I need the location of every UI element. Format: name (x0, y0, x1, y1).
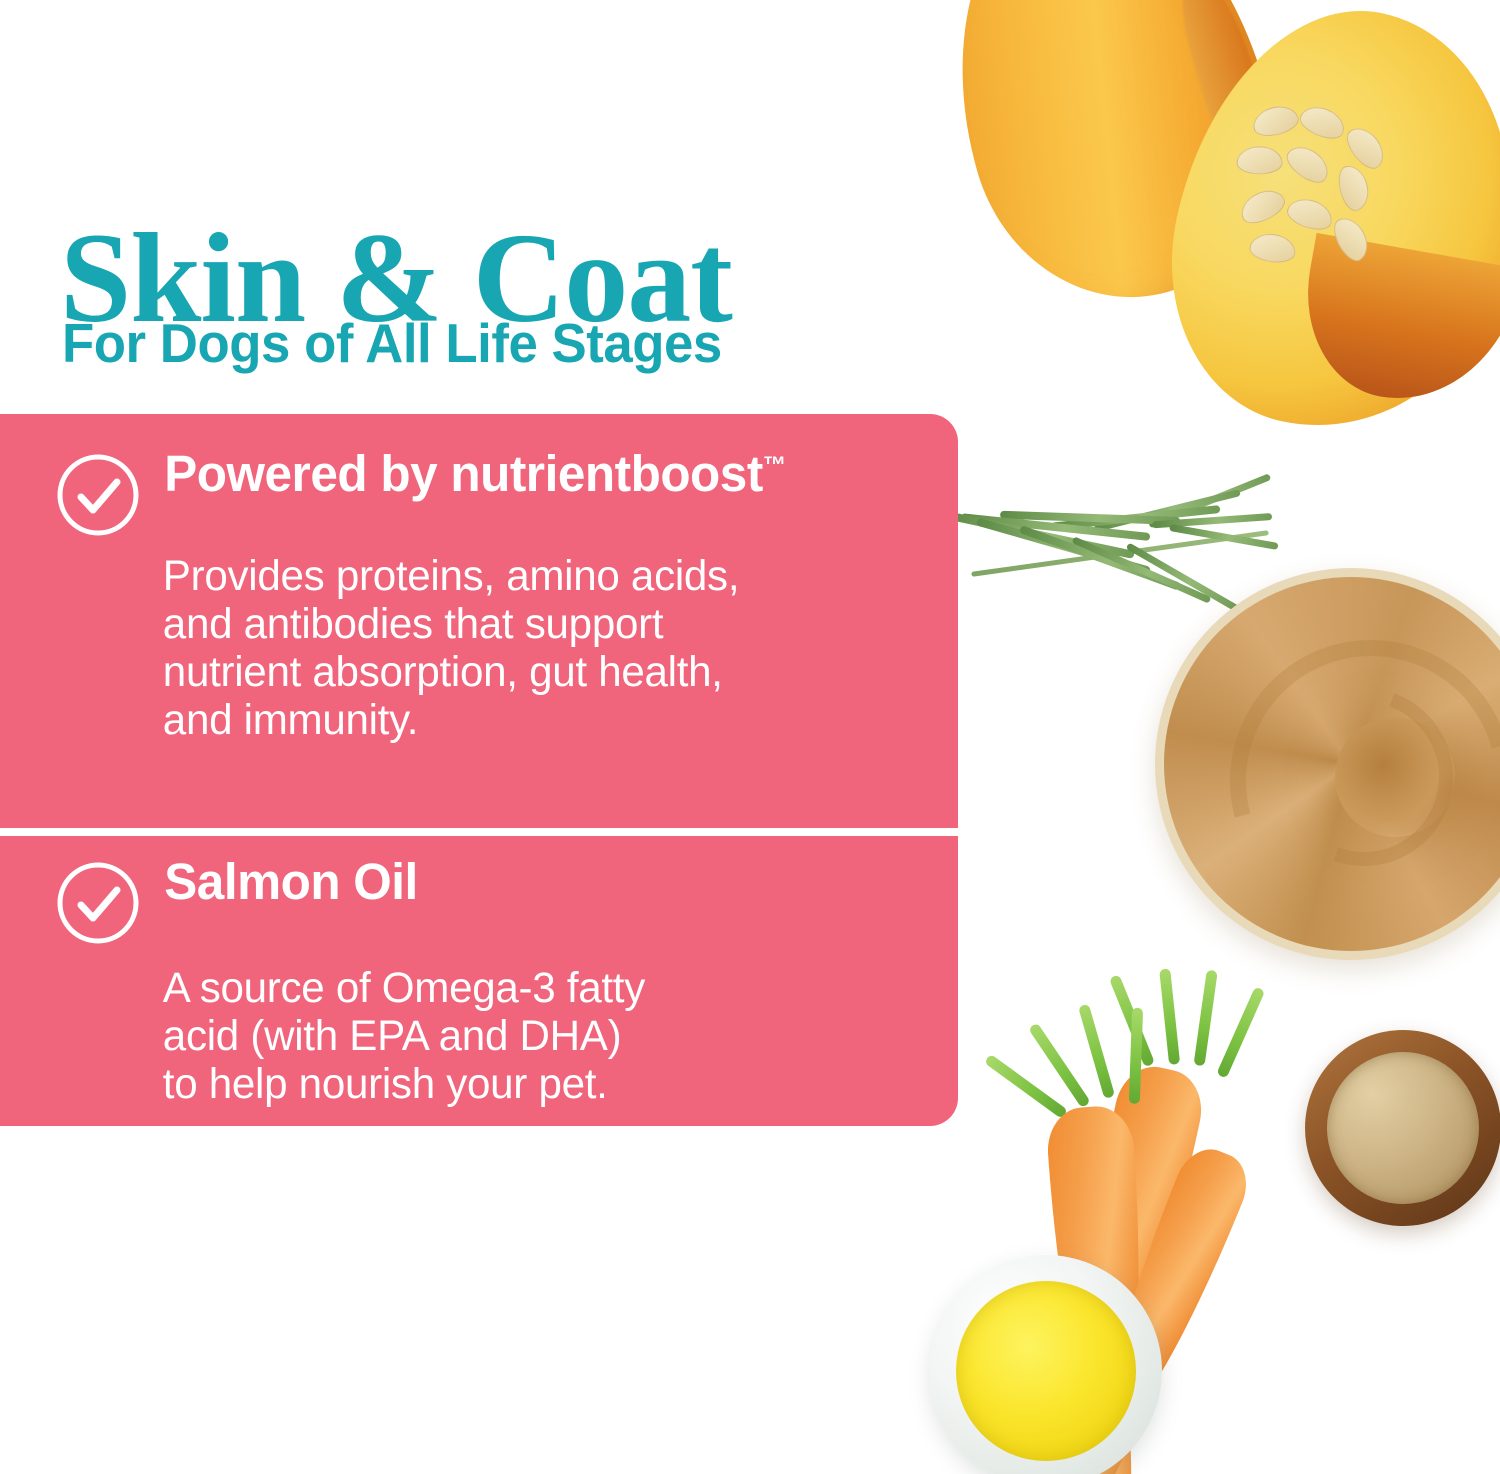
check-circle-icon (55, 452, 141, 538)
benefit-body: A source of Omega-3 fatty acid (with EPA… (55, 946, 940, 1108)
benefit-card-header: Powered by nutrientboost™ (55, 414, 958, 538)
oil-bowl-image (930, 1255, 1162, 1474)
benefit-body: Provides proteins, amino acids, and anti… (55, 538, 940, 744)
benefit-heading-text: Powered by nutrientboost (164, 445, 763, 502)
check-circle-icon (55, 860, 141, 946)
benefit-card-nutrientboost: Powered by nutrientboost™ Provides prote… (0, 414, 958, 828)
page-subtitle: For Dogs of All Life Stages (62, 316, 722, 371)
benefit-card-salmon-oil: Salmon Oil A source of Omega-3 fatty aci… (0, 836, 958, 1126)
benefit-heading: Salmon Oil (141, 836, 418, 910)
product-benefits-panel: Skin & Coat For Dogs of All Life Stages … (0, 0, 1500, 1474)
benefit-card-header: Salmon Oil (55, 836, 958, 946)
benefit-heading-text: Salmon Oil (164, 853, 418, 910)
trademark-symbol: ™ (763, 452, 786, 479)
flaxseed-bowl-image (1305, 1030, 1500, 1226)
benefit-heading: Powered by nutrientboost™ (141, 414, 786, 502)
